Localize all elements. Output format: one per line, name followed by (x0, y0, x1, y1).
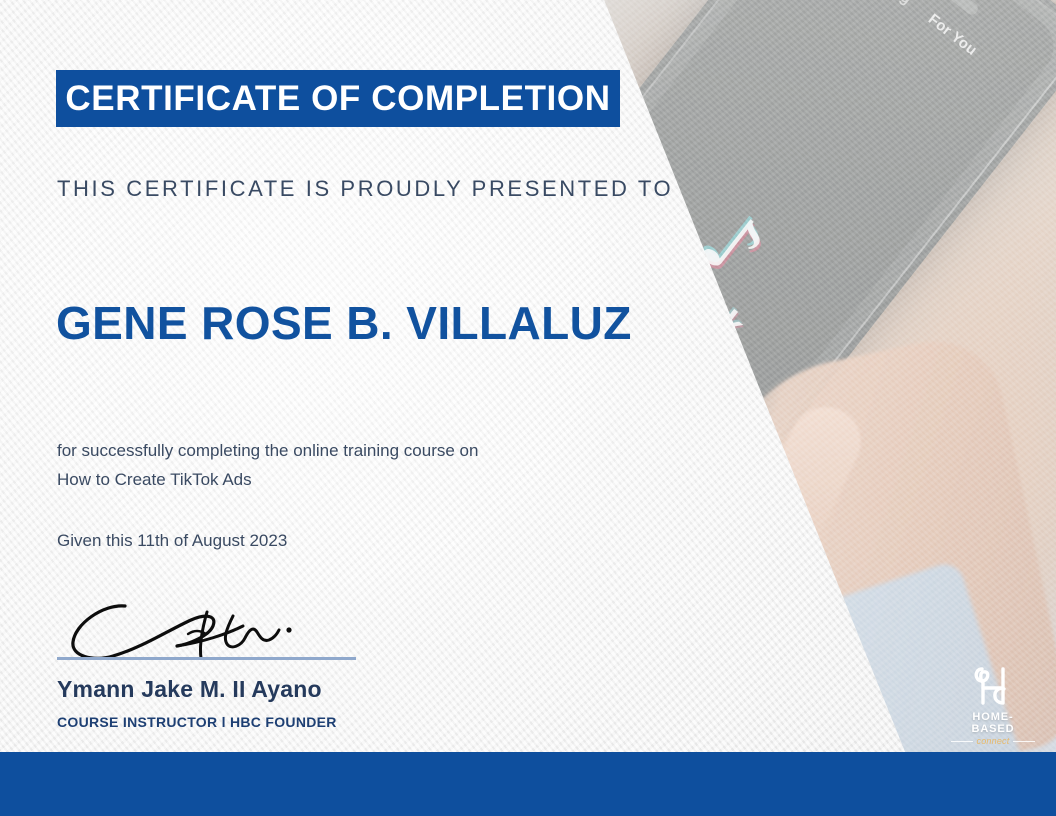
h-monogram-icon (970, 663, 1016, 709)
instructor-name: Ymann Jake M. II Ayano (57, 676, 322, 703)
recipient-name: GENE ROSE B. VILLALUZ (56, 296, 632, 350)
date-line: Given this 11th of August 2023 (57, 531, 287, 551)
course-name-line: How to Create TikTok Ads (57, 465, 478, 494)
logo-tagline-row: connect (951, 736, 1035, 746)
signature-mark (57, 594, 357, 664)
logo-rule-left (951, 741, 973, 742)
course-block: for successfully completing the online t… (57, 436, 478, 494)
title-banner: CERTIFICATE OF COMPLETION (56, 70, 620, 127)
certificate-canvas: Following For You ♪ TikTok CERTIFICATE O… (0, 0, 1056, 816)
instructor-role: COURSE INSTRUCTOR l HBC FOUNDER (57, 714, 337, 730)
logo-tagline: connect (977, 736, 1010, 746)
home-based-connect-logo: HOME-BASED connect (951, 663, 1035, 746)
presented-to-label: THIS CERTIFICATE IS PROUDLY PRESENTED TO (57, 176, 673, 202)
page-title: CERTIFICATE OF COMPLETION (65, 79, 610, 119)
signature-rule (57, 657, 356, 660)
logo-rule-right (1013, 741, 1035, 742)
course-intro-line: for successfully completing the online t… (57, 436, 478, 465)
certificate-content: CERTIFICATE OF COMPLETION THIS CERTIFICA… (0, 0, 1056, 816)
logo-name: HOME-BASED (951, 711, 1035, 735)
